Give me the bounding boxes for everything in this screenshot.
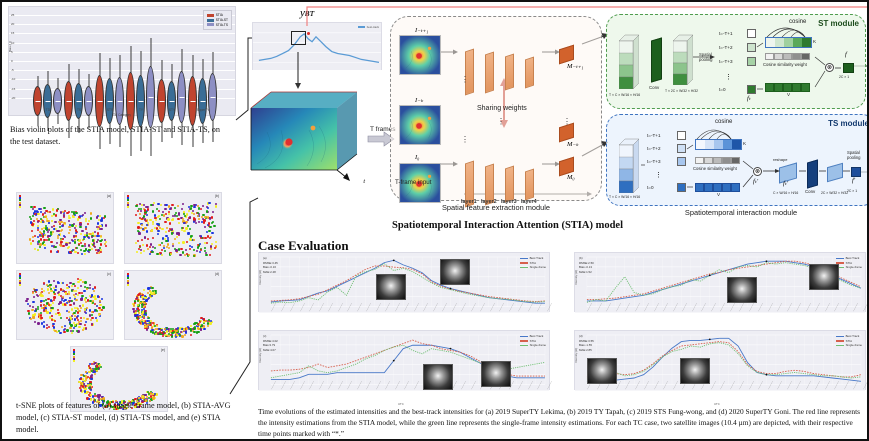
tsne-point <box>69 229 71 231</box>
tsne-point <box>157 233 159 235</box>
tsne-point <box>78 326 80 328</box>
feature-map-label: M₀ <box>567 174 575 181</box>
tsne-point <box>169 222 171 224</box>
chart-legend-entry: Single-frame <box>836 343 862 348</box>
tsne-point <box>207 207 209 209</box>
tsne-point <box>154 247 156 249</box>
tsne-point <box>141 239 143 241</box>
chart-legend-swatch <box>520 267 528 268</box>
tsne-point <box>76 247 78 249</box>
tsne-point <box>170 253 172 255</box>
ts-conv-block <box>807 159 818 188</box>
tsne-point <box>197 246 199 248</box>
tsne-point <box>30 206 32 208</box>
st-conv-block <box>651 37 662 82</box>
chart-legend-swatch <box>836 258 844 259</box>
tsne-point <box>144 213 146 215</box>
tsne-point <box>69 304 71 306</box>
tsne-point <box>142 294 144 296</box>
tsne-point <box>33 220 35 222</box>
tsne-point <box>30 218 32 220</box>
satellite-image <box>587 358 617 384</box>
tsne-point <box>188 254 190 256</box>
tsne-point <box>43 207 45 209</box>
tsne-point <box>43 300 45 302</box>
tsne-point <box>181 335 183 337</box>
tsne-point <box>158 244 160 246</box>
tsne-point <box>177 232 179 234</box>
ts-module: TS module T × C × W/16 × H/16 t=-T+1 t=-… <box>606 114 869 206</box>
tsne-legend-swatch <box>127 284 129 286</box>
intensity-timeseries-chart: (c)RMSE:4.02Bias:3.79MAE:4.07Best TrackS… <box>258 330 550 390</box>
tsne-point <box>143 250 145 252</box>
ts-token-1 <box>677 131 686 140</box>
tsne-point <box>138 248 140 250</box>
ytick-label: -10 <box>11 77 15 81</box>
chart-ylabel: Intensity (kt) <box>574 348 578 363</box>
tsne-point <box>213 225 215 227</box>
tsne-point <box>86 307 88 309</box>
tsne-point <box>164 250 166 252</box>
chart-legend-entry: Single-frame <box>836 265 862 270</box>
satellite-image <box>809 264 839 290</box>
tsne-point <box>200 329 202 331</box>
chart-stats-note: (d)RMSE:3.55Bias:-1.55MAE:2.85 <box>579 334 594 352</box>
tsne-point <box>147 222 149 224</box>
tsne-point <box>69 242 71 244</box>
tsne-point <box>66 287 68 289</box>
tsne-point <box>32 301 34 303</box>
tsne-point <box>137 226 139 228</box>
tsne-point <box>77 315 79 317</box>
tsne-point <box>189 238 191 240</box>
tsne-point <box>37 295 39 297</box>
tsne-point <box>161 242 163 244</box>
tsne-point <box>99 240 101 242</box>
tsne-point <box>53 225 55 227</box>
satellite-image <box>727 277 757 303</box>
tsne-point <box>180 331 182 333</box>
tsne-point <box>157 230 159 232</box>
tsne-point <box>105 224 107 226</box>
tsne-point <box>66 317 68 319</box>
st-cosine-label: cosine <box>789 19 806 25</box>
tsne-point <box>50 250 52 252</box>
tsne-point <box>72 216 74 218</box>
satellite-image <box>680 358 710 384</box>
tsne-point <box>91 248 93 250</box>
ts-input-stack <box>619 137 639 193</box>
tsne-point <box>184 334 186 336</box>
st-token-1 <box>747 29 756 38</box>
architecture-diagram: best-track yʙᴛ <box>242 4 869 216</box>
tsne-point <box>68 232 70 234</box>
st-spatial-pooling-label: Spatial pooling <box>699 53 717 62</box>
st-conv-label: Conv <box>649 85 659 90</box>
violin-group <box>157 17 186 101</box>
chart-legend-swatch <box>836 340 844 341</box>
tsne-point <box>49 211 51 213</box>
tsne-point <box>193 239 195 241</box>
tsne-point <box>74 315 76 317</box>
tsne-point <box>208 222 210 224</box>
tsne-point <box>88 220 90 222</box>
tsne-point <box>33 316 35 318</box>
tsne-point <box>171 228 173 230</box>
tsne-point <box>94 395 96 397</box>
tsne-point <box>158 215 160 217</box>
tsne-point <box>140 252 142 254</box>
tsne-point <box>68 311 70 313</box>
tsne-point <box>147 208 149 210</box>
frame-label: I₀ <box>415 154 419 161</box>
tsne-point <box>105 245 107 247</box>
tsne-point <box>40 314 42 316</box>
tsne-point <box>44 212 46 214</box>
tsne-point <box>99 225 101 227</box>
tsne-point <box>81 245 83 247</box>
tsne-point <box>181 229 183 231</box>
tsne-point <box>42 213 44 215</box>
violin-group <box>126 17 155 101</box>
xtick-label: TD <box>46 108 50 112</box>
tsne-point <box>137 304 139 306</box>
intensity-timeseries-chart: (a)RMSE:3.45Bias:-0.16MAE:2.48Best Track… <box>258 252 550 312</box>
tsne-point <box>164 221 166 223</box>
tsne-point <box>150 320 152 322</box>
ytick-label: -15 <box>11 87 15 91</box>
tsne-point <box>37 249 39 251</box>
vdots-1: ⋮ <box>461 75 469 84</box>
data-cube-svg <box>247 86 367 181</box>
st-input-stack <box>619 33 639 89</box>
tsne-point <box>142 244 144 246</box>
ts-cosine-label: cosine <box>715 119 732 125</box>
tsne-panel: (a)(b)(c)(d)(e) <box>16 192 231 392</box>
tsne-point <box>83 375 85 377</box>
tsne-point <box>45 228 47 230</box>
tsne-point <box>139 203 141 205</box>
chart-xticks: ————————————————————————————————————————… <box>259 389 549 402</box>
tsne-point <box>69 323 71 325</box>
ts-module-title: TS module <box>828 119 869 128</box>
tsne-point <box>46 327 48 329</box>
tsne-point <box>88 371 90 373</box>
tsne-point <box>161 228 163 230</box>
tsne-point <box>158 210 160 212</box>
tsne-point <box>156 253 158 255</box>
tsne-point <box>207 322 209 324</box>
tsne-panel-tag: (d) <box>215 272 219 276</box>
tsne-point <box>141 224 143 226</box>
tsne-point <box>63 222 65 224</box>
tsne-point <box>149 253 151 255</box>
tsne-point <box>84 324 86 326</box>
tsne-point <box>139 213 141 215</box>
tsne-point <box>50 231 52 233</box>
tsne-point <box>69 327 71 329</box>
tsne-point <box>81 230 83 232</box>
tsne-point <box>160 204 162 206</box>
tsne-point <box>151 229 153 231</box>
tsne-point <box>193 331 195 333</box>
tsne-point <box>84 380 86 382</box>
tsne-point <box>198 221 200 223</box>
best-track-intensity-plot: best-track <box>252 22 382 70</box>
tsne-point <box>84 390 86 392</box>
tsne-point <box>37 308 39 310</box>
tsne-point <box>71 308 73 310</box>
st-k-row <box>765 37 812 48</box>
tsne-point <box>190 235 192 237</box>
tsne-point <box>53 280 55 282</box>
tsne-legend <box>127 273 129 287</box>
ts-time-tag-1: t=-T+1 <box>647 133 661 138</box>
chart-legend: Best TrackSTIASingle-frame <box>520 334 546 348</box>
tsne-point <box>62 238 64 240</box>
tsne-point <box>204 226 206 228</box>
tsne-point <box>82 214 84 216</box>
input-frame-image <box>399 35 441 75</box>
tsne-point <box>34 313 36 315</box>
tsne-point <box>77 294 79 296</box>
cnn-layer-block <box>505 54 514 91</box>
chart-legend: Best TrackSTIASingle-frame <box>836 334 862 348</box>
tsne-point <box>29 238 31 240</box>
tsne-point <box>53 326 55 328</box>
tsne-point <box>152 322 154 324</box>
chart-legend-swatch <box>520 336 528 337</box>
satellite-image <box>376 274 406 300</box>
tsne-point <box>91 294 93 296</box>
chart-legend: Best TrackSTIASingle-frame <box>836 256 862 270</box>
tsne-point <box>209 226 211 228</box>
frame-label: I₋ₖ <box>415 96 423 104</box>
tsne-point <box>32 240 34 242</box>
tsne-point <box>59 332 61 334</box>
tsne-point <box>50 299 52 301</box>
ytick-label: 15 <box>11 31 14 35</box>
tsne-point <box>168 211 170 213</box>
tsne-point <box>153 202 155 204</box>
sfe-title: Spatial feature extraction module <box>442 203 550 212</box>
tsne-point <box>80 307 82 309</box>
tsne-point <box>139 316 141 318</box>
tsne-point <box>203 325 205 327</box>
tsne-point <box>188 210 190 212</box>
tsne-point <box>84 281 86 283</box>
data-cube: t <box>247 86 367 181</box>
chart-legend-entry: Single-frame <box>520 265 546 270</box>
tsne-point <box>143 215 145 217</box>
ytick-label: 0 <box>11 59 13 63</box>
ts-multiply-icon: ⊗ <box>753 167 762 176</box>
tsne-point <box>154 214 156 216</box>
tsne-point <box>73 302 75 304</box>
zoom-box <box>291 31 306 45</box>
tsne-point <box>163 247 165 249</box>
tsne-point <box>167 218 169 220</box>
tsne-point <box>144 394 146 396</box>
t-axis-label: t <box>363 179 365 185</box>
case-evaluation-caption: Time evolutions of the estimated intensi… <box>258 406 863 439</box>
input-frame-image <box>399 105 441 145</box>
tsne-point <box>151 326 153 328</box>
tsne-point <box>143 289 145 291</box>
tsne-point <box>215 241 217 243</box>
tsne-point <box>49 284 51 286</box>
tsne-point <box>59 244 61 246</box>
tsne-point <box>31 223 33 225</box>
st-token-4 <box>747 85 756 94</box>
ytick-label: 5 <box>11 50 13 54</box>
tsne-point <box>139 245 141 247</box>
ts-k-row <box>695 139 742 150</box>
tsne-point <box>79 279 81 281</box>
tsne-point <box>167 239 169 241</box>
violin-caption: Bias violin plots of the STIA model, STI… <box>10 124 232 148</box>
tsne-point <box>31 230 33 232</box>
sti-title: Spatiotemporal interaction module <box>685 208 797 217</box>
tsne-point <box>86 318 88 320</box>
ts-vec-dim: 2C × 1 <box>847 189 857 193</box>
tsne-point <box>82 304 84 306</box>
st-time-tag-2: t=-T+2 <box>719 45 733 50</box>
tsne-point <box>182 251 184 253</box>
tsne-point <box>195 222 197 224</box>
tsne-point <box>60 317 62 319</box>
tsne-point <box>32 215 34 217</box>
chart-xticks: ————————————————————————————————————————… <box>575 389 865 402</box>
cnn-layer-block <box>525 168 534 200</box>
tsne-point <box>211 232 213 234</box>
tsne-point <box>100 235 102 237</box>
tsne-point <box>211 216 213 218</box>
xtick-label: STS <box>107 108 113 112</box>
tsne-point <box>148 317 150 319</box>
tsne-point <box>73 312 75 314</box>
tsne-point <box>81 292 83 294</box>
tsne-point <box>206 210 208 212</box>
tsne-point <box>154 393 156 395</box>
tsne-point <box>54 320 56 322</box>
tsne-point <box>134 315 136 317</box>
st-time-tag-4: t=0 <box>719 87 726 92</box>
tsne-point <box>209 322 211 324</box>
tsne-point <box>81 253 83 255</box>
tsne-point <box>47 235 49 237</box>
t-frame-input-label: T-frame input <box>395 179 431 186</box>
tsne-point <box>80 285 82 287</box>
tsne-point <box>79 226 81 228</box>
cnn-layer-block <box>465 49 474 96</box>
tsne-point <box>199 251 201 253</box>
chart-bias: Bias:-1.55 <box>579 343 594 348</box>
tsne-point <box>38 240 40 242</box>
tsne-point <box>99 228 101 230</box>
tsne-point <box>172 245 174 247</box>
ytick-label: -5 <box>11 68 14 72</box>
tsne-point <box>152 237 154 239</box>
tsne-point <box>181 208 183 210</box>
tsne-point <box>182 203 184 205</box>
tsne-legend <box>19 273 21 287</box>
tsne-point <box>80 249 82 251</box>
chart-legend-swatch <box>520 345 528 346</box>
tsne-point <box>59 313 61 315</box>
tsne-point <box>186 241 188 243</box>
violin-plot-panel: Bias (kt) 2520151050-5-10-15-20 TDTSSTST… <box>8 6 236 116</box>
satellite-image <box>423 364 453 390</box>
satellite-image <box>481 361 511 387</box>
tsne-point <box>136 251 138 253</box>
tsne-point <box>178 242 180 244</box>
tsne-point <box>135 214 137 216</box>
tsne-legend-swatch <box>19 206 21 208</box>
tsne-point <box>43 230 45 232</box>
tsne-point <box>89 314 91 316</box>
tsne-point <box>101 224 103 226</box>
tsne-point <box>40 294 42 296</box>
tsne-point <box>45 309 47 311</box>
legend-swatch <box>207 14 214 17</box>
tsne-legend-swatch <box>19 284 21 286</box>
tsne-panel-tag: (c) <box>107 272 111 276</box>
tsne-point <box>63 331 65 333</box>
tsne-point <box>53 299 55 301</box>
chart-xticks: ————————————————————————————————————————… <box>259 311 549 324</box>
tsne-point <box>84 253 86 255</box>
ts-conv-label: Conv <box>805 189 815 194</box>
tsne-panel-tag: (a) <box>107 194 111 198</box>
spatial-feature-extraction-module: I₋ₜ₊₁I₋ₖI₀ layer1layer2layer3layer4 M₋ₜ₊… <box>390 16 602 201</box>
tsne-point <box>80 378 82 380</box>
chart-bias: Bias:-0.13 <box>579 265 594 270</box>
tsne-point <box>158 224 160 226</box>
tsne-point <box>205 254 207 256</box>
chart-mae: MAE:2.85 <box>579 348 594 353</box>
tsne-point <box>165 240 167 242</box>
ts-output-vector <box>851 167 861 177</box>
tsne-panel-tag: (e) <box>161 348 165 352</box>
tsne-point <box>56 230 58 232</box>
st-cos-weight-label: Cosine similarity weight <box>763 62 807 67</box>
ts-v-label: V <box>717 192 720 197</box>
tsne-point <box>57 281 59 283</box>
tsne-point <box>178 222 180 224</box>
tsne-point <box>39 243 41 245</box>
ts-token-2 <box>677 144 686 153</box>
tsne-point <box>74 324 76 326</box>
tsne-legend-swatch <box>127 206 129 208</box>
tsne-point <box>43 290 45 292</box>
tsne-panel-tag: (b) <box>215 194 219 198</box>
tsne-point <box>73 223 75 225</box>
ts-ft-prime-label-2: fₜ' <box>783 179 788 187</box>
cnn-layer-block <box>485 51 494 93</box>
tsne-point <box>138 233 140 235</box>
tsne-point <box>146 214 148 216</box>
tsne-point <box>197 212 199 214</box>
tsne-point <box>142 311 144 313</box>
ts-token-4 <box>677 183 686 192</box>
tsne-point <box>54 289 56 291</box>
tsne-point <box>44 234 46 236</box>
tsne-point <box>37 221 39 223</box>
tsne-point <box>75 232 77 234</box>
tsne-point <box>140 249 142 251</box>
tsne-point <box>29 305 31 307</box>
